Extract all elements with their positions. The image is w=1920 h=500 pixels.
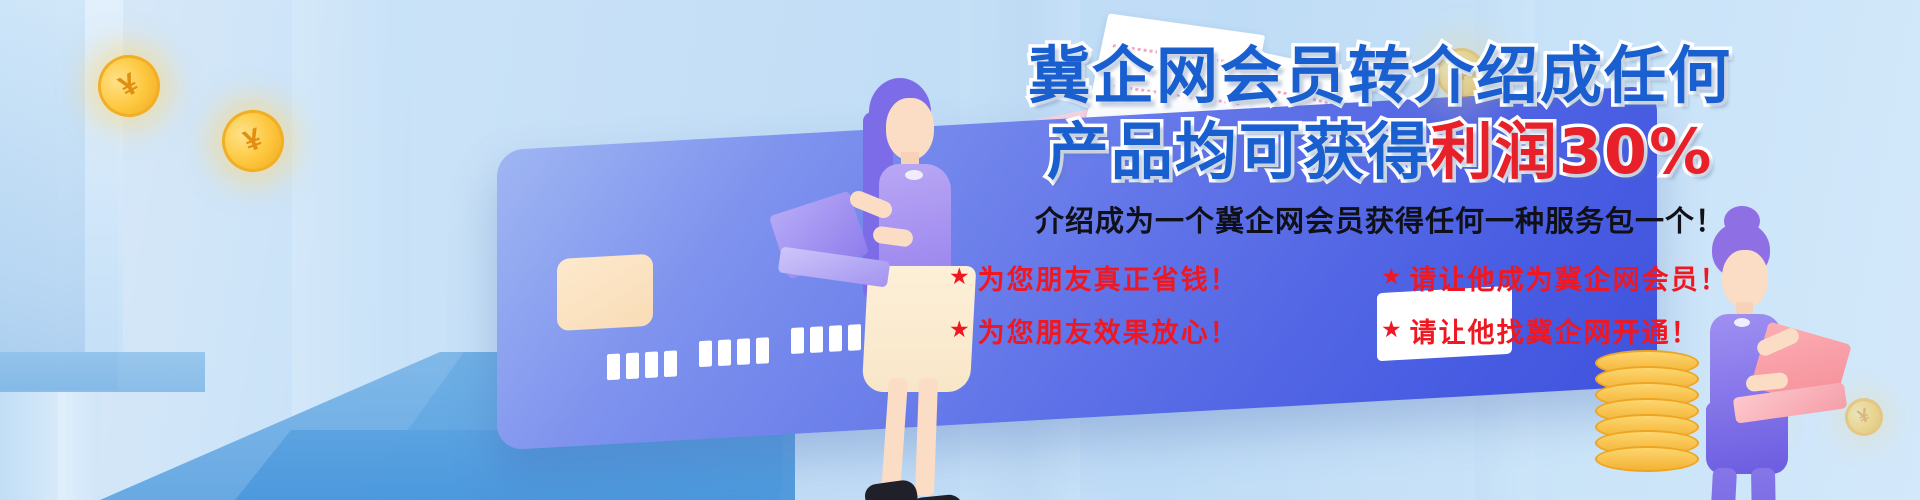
sub-headline: 介绍成为一个冀企网会员获得任何一种服务包一个！: [860, 198, 1900, 240]
benefit-item: ★ 请让他找冀企网开通！: [1381, 311, 1811, 350]
star-icon: ★: [1381, 319, 1404, 342]
promo-banner: ¥ ¥ ¥ ¥: [0, 0, 1920, 500]
benefit-label: 为您朋友真正省钱！: [978, 258, 1239, 297]
star-icon: ★: [949, 266, 972, 289]
headline-accent: 利润30%: [1431, 115, 1713, 188]
coin-icon: ¥: [1839, 392, 1888, 441]
star-icon: ★: [949, 319, 972, 342]
coin-icon: ¥: [213, 101, 292, 180]
benefit-list: ★ 为您朋友真正省钱！ ★ 请让他成为冀企网会员！ ★ 为您朋友效果放心！ ★ …: [860, 258, 1900, 350]
card-chip: [557, 254, 653, 331]
background-floor-strip: [0, 352, 205, 392]
headline-line-1: 冀企网会员转介绍成任何: [860, 38, 1900, 114]
headline-line-2-prefix: 产品均可获得: [1047, 115, 1431, 188]
coin-symbol: ¥: [114, 67, 145, 105]
benefit-item: ★ 为您朋友效果放心！: [949, 311, 1319, 350]
benefit-label: 请让他找冀企网开通！: [1410, 311, 1700, 350]
benefit-label: 为您朋友效果放心！: [978, 311, 1239, 350]
benefit-row: ★ 为您朋友效果放心！ ★ 请让他找冀企网开通！: [860, 311, 1900, 350]
benefit-label: 请让他成为冀企网会员！: [1410, 258, 1729, 297]
coin-symbol: ¥: [239, 122, 266, 160]
background-wall-highlight: [85, 0, 123, 352]
benefit-item: ★ 请让他成为冀企网会员！: [1381, 258, 1811, 297]
coin-symbol: ¥: [1855, 405, 1873, 429]
headline-line-2: 产品均可获得利润30%: [860, 114, 1900, 190]
benefit-item: ★ 为您朋友真正省钱！: [949, 258, 1319, 297]
star-icon: ★: [1381, 266, 1404, 289]
benefit-row: ★ 为您朋友真正省钱！ ★ 请让他成为冀企网会员！: [860, 258, 1900, 297]
banner-text-block: 冀企网会员转介绍成任何 产品均可获得利润30% 介绍成为一个冀企网会员获得任何一…: [860, 38, 1900, 364]
